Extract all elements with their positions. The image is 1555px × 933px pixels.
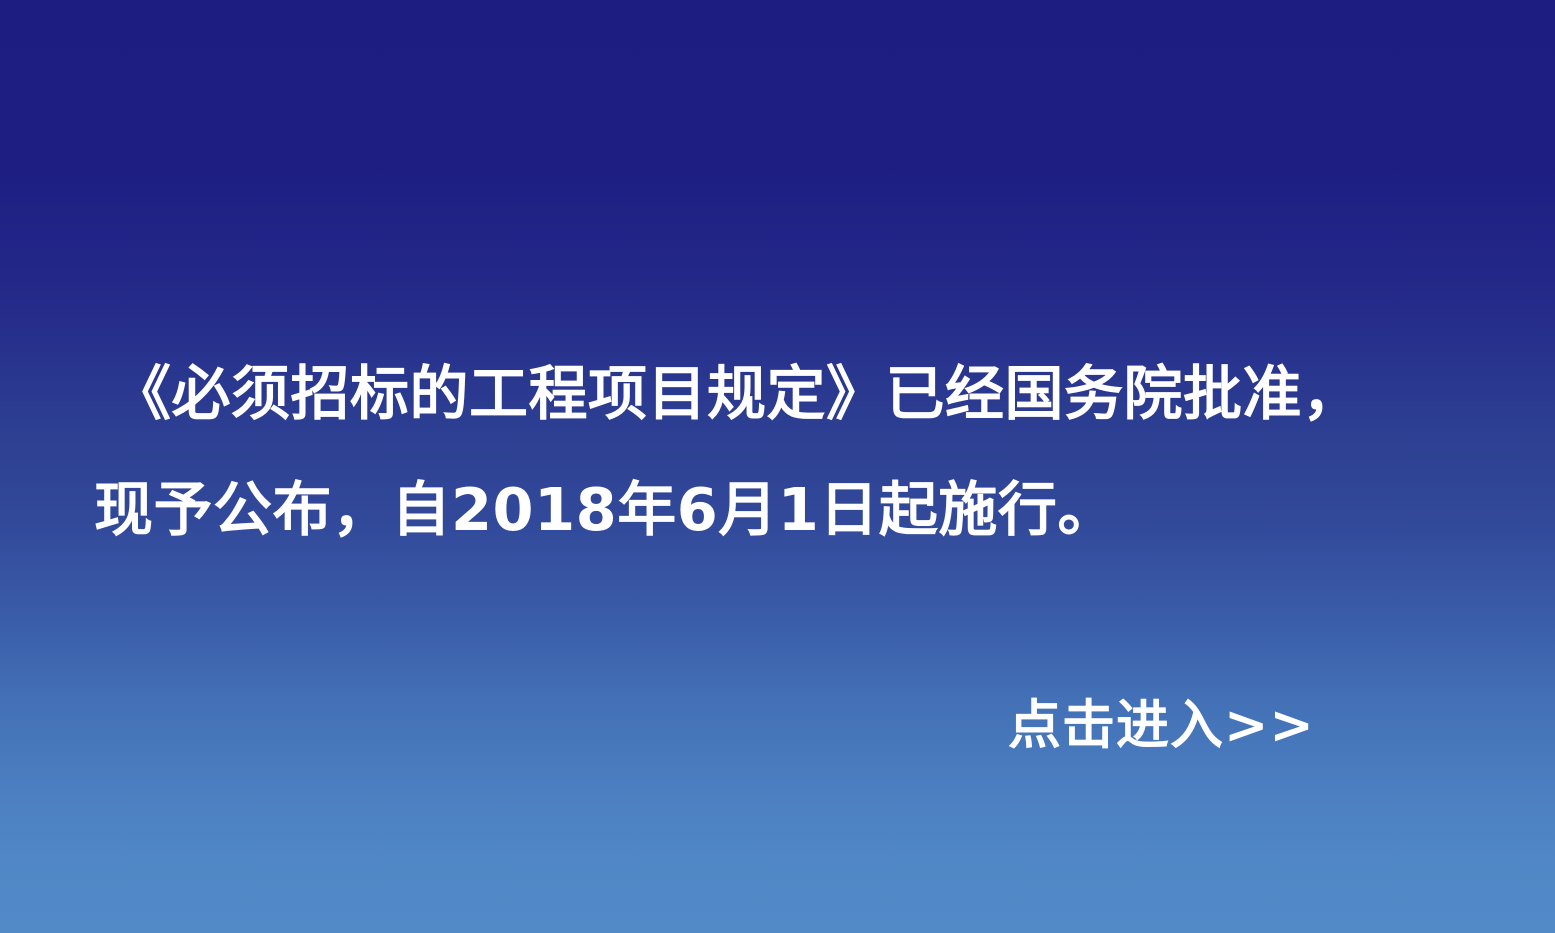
enter-link[interactable]: 点击进入>> — [1008, 691, 1315, 761]
headline-line-2: 现予公布，自2018年6月1日起施行。 — [0, 452, 1555, 568]
headline-line-1: 《必须招标的工程项目规定》已经国务院批准， — [0, 336, 1555, 452]
promo-banner: 《必须招标的工程项目规定》已经国务院批准， 现予公布，自2018年6月1日起施行… — [0, 0, 1555, 933]
cta-row: 点击进入>> — [0, 691, 1555, 761]
headline-block: 《必须招标的工程项目规定》已经国务院批准， 现予公布，自2018年6月1日起施行… — [0, 336, 1555, 568]
